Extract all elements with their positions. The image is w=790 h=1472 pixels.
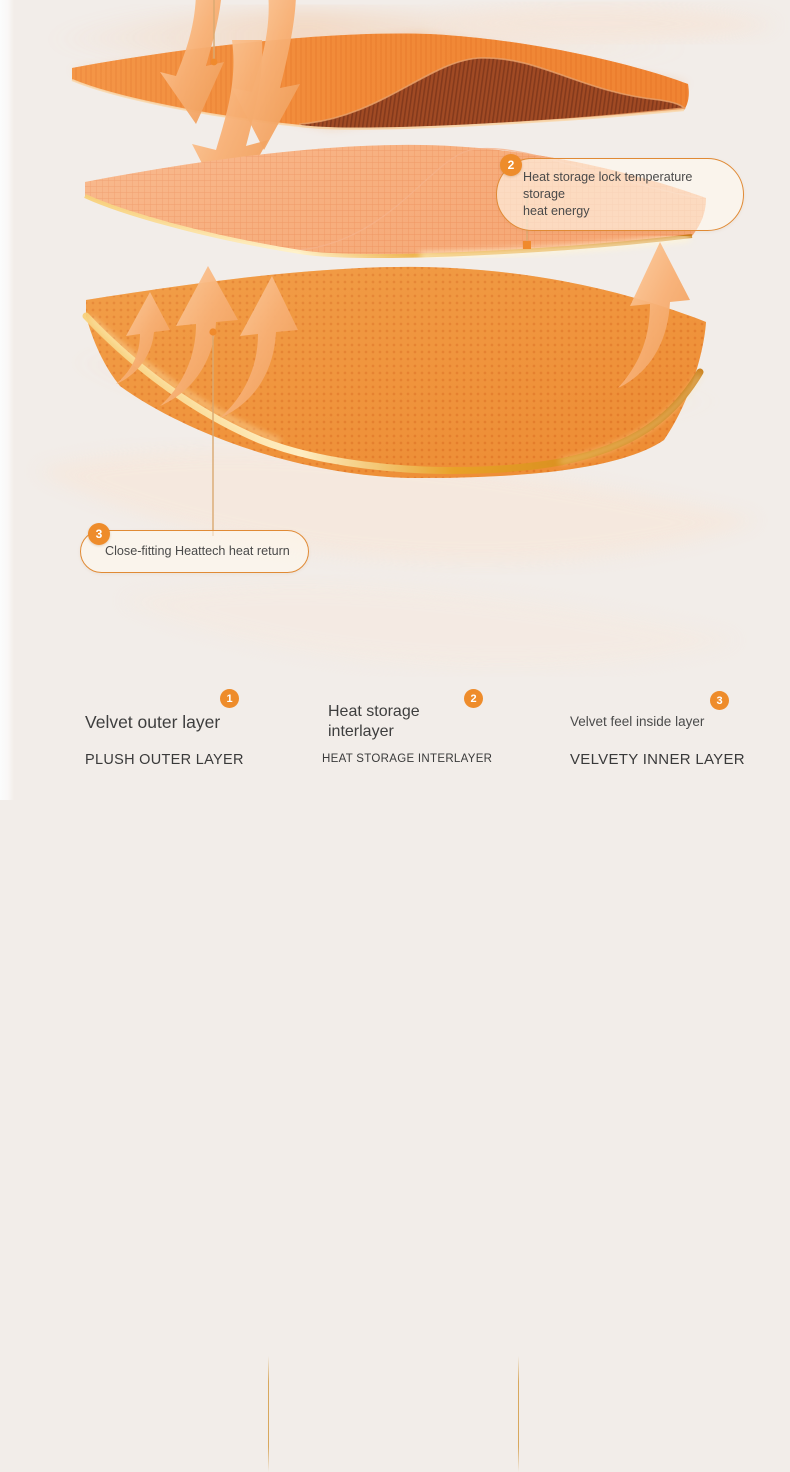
callout-3-text: Close-fitting Heattech heat return bbox=[80, 530, 309, 573]
legend: 1 Velvet outer layer PLUSH OUTER LAYER 2… bbox=[0, 672, 790, 800]
legend-column-outer[interactable]: 1 Velvet outer layer PLUSH OUTER LAYER bbox=[60, 672, 260, 800]
legend-badge-2: 2 bbox=[464, 689, 483, 708]
callout-3[interactable]: 3 Close-fitting Heattech heat return bbox=[80, 530, 336, 573]
callout-2[interactable]: 2 Heat storage lock temperature storage … bbox=[496, 158, 744, 231]
legend-column-interlayer[interactable]: 2 Heat storage interlayer HEAT STORAGE I… bbox=[310, 672, 540, 800]
callout-2-badge: 2 bbox=[500, 154, 522, 176]
legend-badge-1: 1 bbox=[220, 689, 239, 708]
legend-subtitle-3: VELVETY INNER LAYER bbox=[570, 751, 745, 768]
callout-2-text: Heat storage lock temperature storage he… bbox=[496, 158, 744, 231]
legend-divider-2 bbox=[518, 1356, 519, 1472]
legend-title-1: Velvet outer layer bbox=[85, 712, 220, 733]
legend-title-2: Heat storage interlayer bbox=[328, 702, 420, 743]
legend-column-inner[interactable]: 3 Velvet feel inside layer VELVETY INNER… bbox=[555, 672, 790, 800]
callout-3-badge: 3 bbox=[88, 523, 110, 545]
legend-divider-1 bbox=[268, 1356, 269, 1472]
layer-inner bbox=[86, 267, 706, 478]
infographic-stage: 2 Heat storage lock temperature storage … bbox=[0, 0, 790, 800]
legend-subtitle-2: HEAT STORAGE INTERLAYER bbox=[322, 753, 492, 765]
legend-title-3: Velvet feel inside layer bbox=[570, 714, 704, 729]
legend-subtitle-1: PLUSH OUTER LAYER bbox=[85, 752, 244, 768]
legend-badge-3: 3 bbox=[710, 691, 729, 710]
